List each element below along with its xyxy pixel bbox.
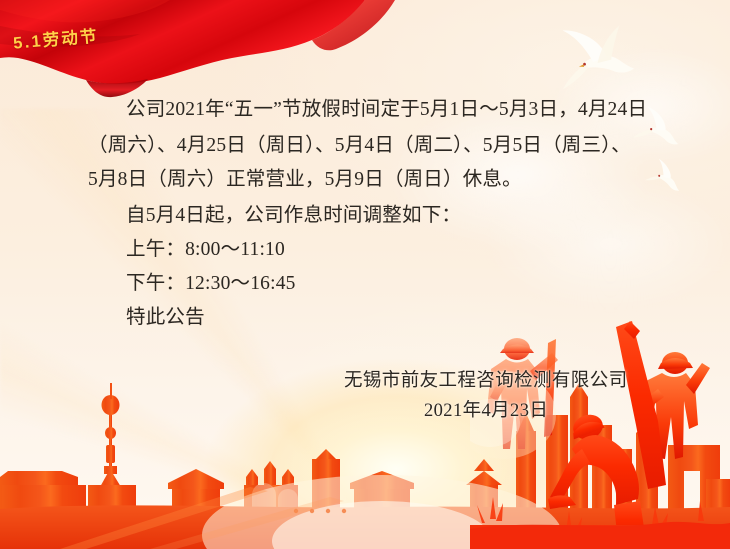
- notice-line-6: 下午：12:30～16:45: [126, 266, 296, 302]
- signature-company: 无锡市前友工程咨询检测有限公司: [344, 367, 628, 395]
- notice-line-1: 公司2021年“五一”节放假时间定于5月1日～5月3日，4月24日: [126, 92, 647, 128]
- notice-line-7: 特此公告: [126, 300, 205, 336]
- holiday-notice-poster: 5.1劳动节: [0, 0, 730, 549]
- notice-line-3: 5月8日（周六）正常营业，5月9日（周日）休息。: [88, 162, 522, 198]
- notice-line-5: 上午：8:00～11:10: [126, 232, 285, 268]
- poster-background: [0, 0, 730, 549]
- signature-date: 2021年4月23日: [424, 397, 548, 425]
- notice-line-2: （周六）、4月25日（周日）、5月4日（周二）、5月5日（周三）、: [88, 128, 631, 164]
- notice-line-4: 自5月4日起，公司作息时间调整如下：: [126, 198, 461, 234]
